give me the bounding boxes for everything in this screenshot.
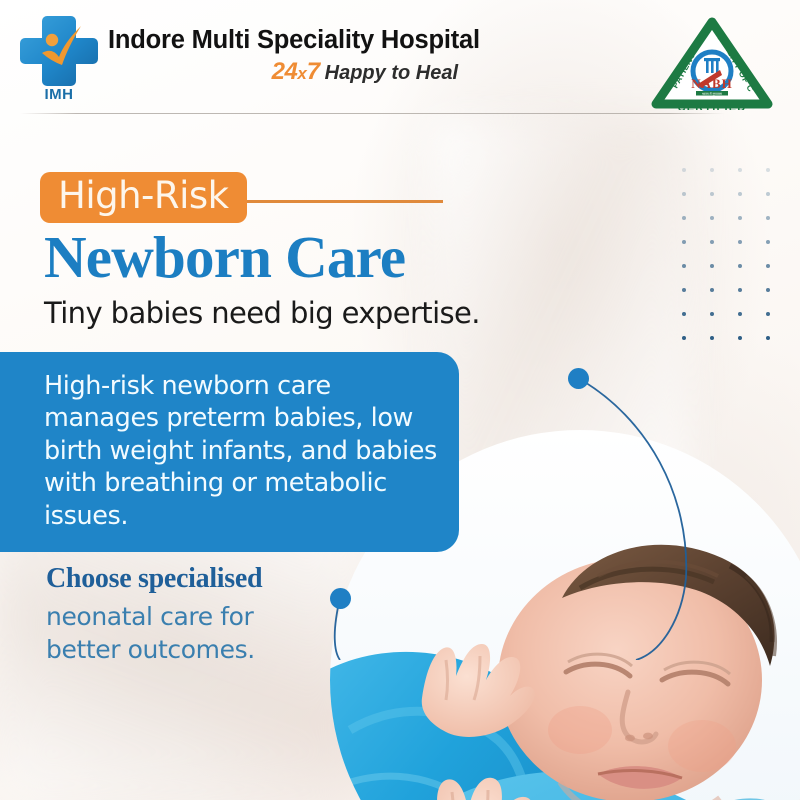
cta-body: neonatal care for better outcomes. bbox=[46, 600, 262, 666]
dot-grid-dot bbox=[710, 192, 714, 196]
dot-grid-dot bbox=[766, 312, 770, 316]
dot-grid-dot bbox=[766, 216, 770, 220]
hospital-tagline: 24x7Happy to Heal bbox=[108, 58, 458, 86]
eyebrow-rule bbox=[240, 200, 443, 203]
dot-grid-dot bbox=[710, 312, 714, 316]
dot-grid-dot bbox=[766, 192, 770, 196]
svg-text:भारत में गुणवत्ता: भारत में गुणवत्ता bbox=[702, 91, 722, 96]
dot-grid-row bbox=[682, 216, 770, 220]
dot-grid-dot bbox=[682, 192, 686, 196]
dot-grid-dot bbox=[682, 288, 686, 292]
svg-text:NABH: NABH bbox=[691, 76, 733, 91]
dot-grid-dot bbox=[710, 288, 714, 292]
dot-grid-dot bbox=[710, 216, 714, 220]
decorative-dot-grid bbox=[682, 168, 770, 360]
cta-body-line-2: better outcomes. bbox=[46, 633, 262, 666]
accent-dot-left bbox=[330, 588, 351, 609]
eyebrow-badge: High-Risk bbox=[40, 172, 247, 223]
dot-grid-dot bbox=[766, 240, 770, 244]
dot-grid-dot bbox=[710, 264, 714, 268]
dot-grid-dot bbox=[766, 336, 770, 340]
dot-grid-row bbox=[682, 168, 770, 172]
dot-grid-dot bbox=[682, 216, 686, 220]
dot-grid-dot bbox=[738, 312, 742, 316]
dot-grid-dot bbox=[738, 240, 742, 244]
dot-grid-dot bbox=[710, 240, 714, 244]
description-text: High-risk newborn care manages preterm b… bbox=[44, 370, 439, 532]
logo-abbreviation: IMH bbox=[20, 86, 98, 103]
description-card: High-risk newborn care manages preterm b… bbox=[0, 352, 459, 552]
dot-grid-dot bbox=[766, 168, 770, 172]
tagline-x: x bbox=[297, 64, 306, 83]
hospital-name: Indore Multi Speciality Hospital bbox=[108, 26, 458, 55]
dot-grid-dot bbox=[682, 240, 686, 244]
dot-grid-row bbox=[682, 264, 770, 268]
dot-grid-dot bbox=[738, 336, 742, 340]
header: IMH Indore Multi Speciality Hospital 24x… bbox=[0, 0, 800, 118]
dot-grid-row bbox=[682, 288, 770, 292]
dot-grid-dot bbox=[738, 288, 742, 292]
nabh-certified-badge-icon: PATIENT SAFETY & QUALITY OF CARE NABH भा… bbox=[648, 14, 776, 110]
page-subtitle: Tiny babies need big expertise. bbox=[44, 297, 480, 330]
dot-grid-dot bbox=[738, 168, 742, 172]
dot-grid-dot bbox=[682, 168, 686, 172]
dot-grid-dot bbox=[682, 336, 686, 340]
accent-dot-top bbox=[568, 368, 589, 389]
poster-canvas: IMH Indore Multi Speciality Hospital 24x… bbox=[0, 0, 800, 800]
dot-grid-dot bbox=[682, 312, 686, 316]
dot-grid-row bbox=[682, 336, 770, 340]
dot-grid-row bbox=[682, 192, 770, 196]
dot-grid-row bbox=[682, 312, 770, 316]
dot-grid-dot bbox=[766, 264, 770, 268]
tagline-phrase: Happy to Heal bbox=[325, 62, 458, 84]
svg-text:CERTIFIED: CERTIFIED bbox=[678, 102, 747, 110]
brand-block: Indore Multi Speciality Hospital 24x7Hap… bbox=[108, 26, 458, 86]
cta-headline: Choose specialised bbox=[46, 562, 262, 596]
dot-grid-dot bbox=[738, 264, 742, 268]
dot-grid-dot bbox=[710, 168, 714, 172]
dot-grid-dot bbox=[766, 288, 770, 292]
dot-grid-dot bbox=[710, 336, 714, 340]
call-to-action: Choose specialised neonatal care for bet… bbox=[46, 562, 262, 666]
header-divider bbox=[20, 113, 725, 114]
hospital-logo[interactable]: IMH bbox=[20, 14, 102, 106]
dot-grid-dot bbox=[682, 264, 686, 268]
page-title: Newborn Care bbox=[44, 228, 405, 287]
cta-body-line-1: neonatal care for bbox=[46, 600, 262, 633]
dot-grid-dot bbox=[738, 192, 742, 196]
tagline-7: 7 bbox=[307, 58, 320, 85]
tagline-24: 24 bbox=[272, 58, 298, 85]
dot-grid-dot bbox=[738, 216, 742, 220]
medical-cross-logo-icon bbox=[20, 14, 98, 86]
dot-grid-row bbox=[682, 240, 770, 244]
